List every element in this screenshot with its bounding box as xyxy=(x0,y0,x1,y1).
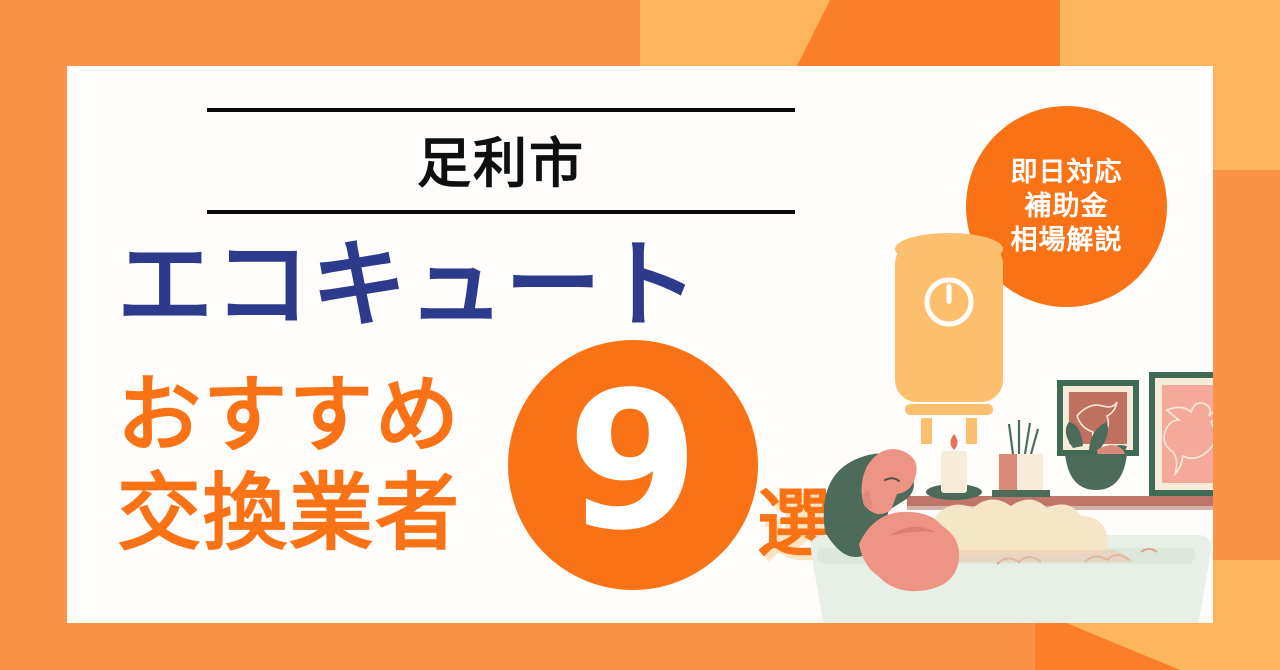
subheadline-line-2: 交換業者 xyxy=(117,464,461,562)
count-number: 9 xyxy=(567,367,699,557)
water-heater-tank xyxy=(895,233,1003,444)
reed-diffuser xyxy=(992,420,1050,497)
subheadline-line-1: おすすめ xyxy=(117,366,461,464)
divider-line-bottom xyxy=(207,210,795,214)
framed-art-dancer xyxy=(1149,372,1213,496)
subheadline: おすすめ 交換業者 xyxy=(117,366,461,562)
background-shape-bottom-left-dark xyxy=(0,622,1035,670)
page-title: エコキュート xyxy=(117,231,699,339)
content-card: 足利市 エコキュート おすすめ 交換業者 9 選 即日対応 補助金 相場解説 xyxy=(67,66,1213,623)
city-label: 足利市 xyxy=(207,124,795,204)
bathroom-illustration xyxy=(807,166,1213,623)
count-badge: 9 xyxy=(508,340,758,590)
divider-line-top xyxy=(207,108,795,112)
